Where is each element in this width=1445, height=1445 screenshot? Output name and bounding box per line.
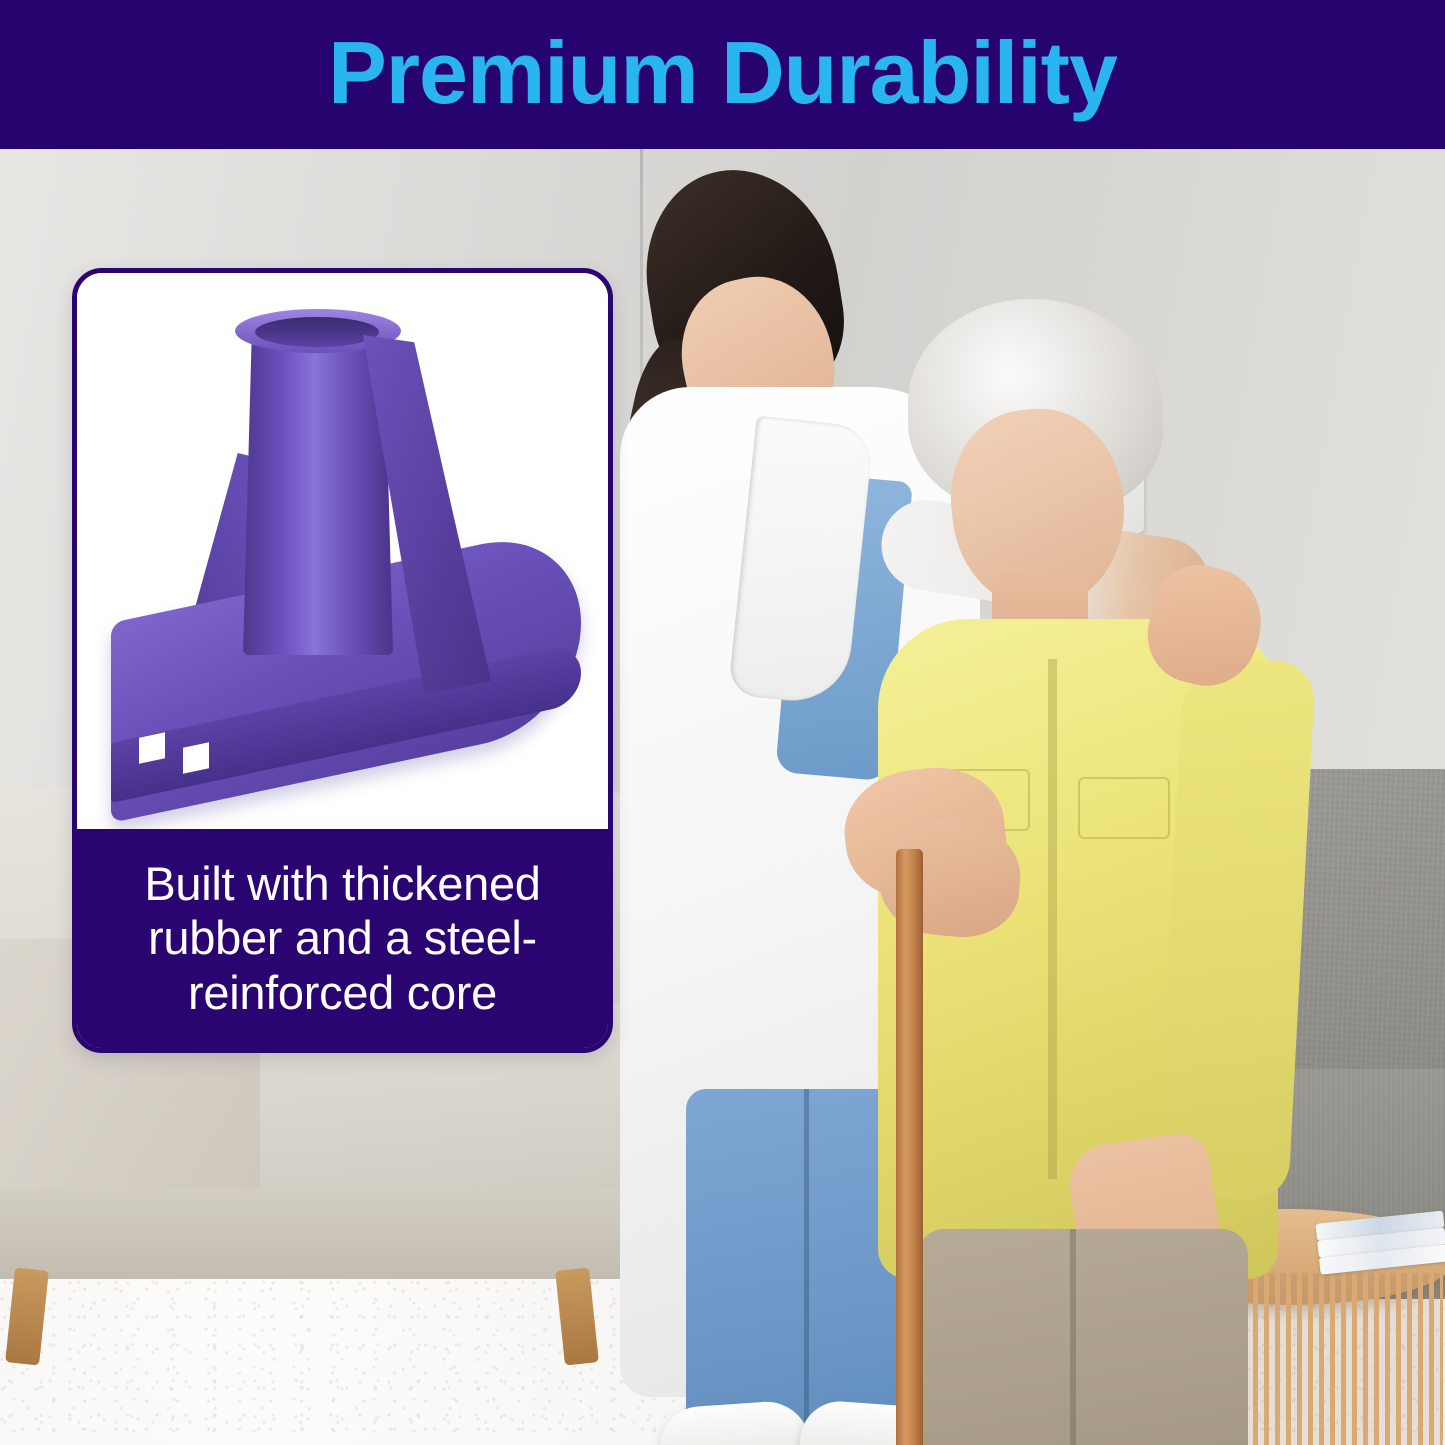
cane-tip-ferrule-illustration [77, 273, 608, 839]
ferrule-socket-bore [255, 317, 379, 347]
ferrule-notch [377, 790, 403, 822]
ferrule-notch [139, 732, 165, 764]
ferrule-notch [183, 742, 209, 774]
product-photo [77, 273, 608, 839]
product-marketing-image: Premium Durability [0, 0, 1445, 1445]
header-banner: Premium Durability [0, 0, 1445, 150]
blouse-sleeve [1156, 656, 1316, 1202]
feature-caption-text: Built with thickened rubber and a steel-… [77, 857, 608, 1021]
ferrule-notch [421, 800, 447, 832]
product-feature-card: Built with thickened rubber and a steel-… [72, 268, 613, 1053]
blouse-pocket [1078, 777, 1170, 839]
elderly-trousers [918, 1229, 1248, 1445]
page-title: Premium Durability [328, 29, 1117, 117]
feature-caption-box: Built with thickened rubber and a steel-… [77, 829, 608, 1048]
sofa-base [0, 1189, 640, 1279]
blouse-placket [1048, 659, 1057, 1179]
wooden-cane-shaft [896, 849, 923, 1445]
